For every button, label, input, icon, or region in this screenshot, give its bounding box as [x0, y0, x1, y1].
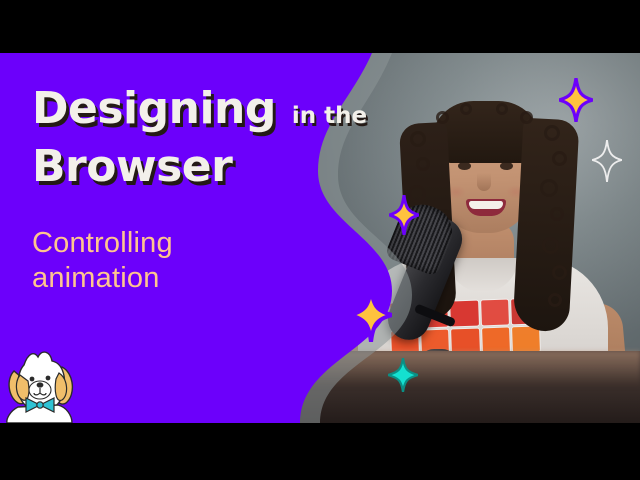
title-line-2: Browser: [32, 143, 367, 191]
hair-curl: [416, 157, 430, 171]
sparkle-wall-white-icon: [592, 140, 622, 182]
teeth: [469, 201, 503, 209]
title-suffix-word: in the: [292, 103, 367, 129]
hair-curl: [544, 125, 560, 141]
hair-curl: [410, 131, 426, 147]
subtitle-block: Controlling animation: [32, 226, 367, 297]
subtitle-line-1: Controlling: [32, 226, 367, 261]
title-block: Designing in the Browser Controlling ani…: [32, 85, 367, 297]
hair-curl: [550, 207, 564, 221]
video-frame: Designing in the Browser Controlling ani…: [0, 53, 640, 423]
eye-left: [458, 162, 471, 170]
letterbox-bar-top: [0, 0, 640, 53]
sparkle-shoulder-icon: [350, 288, 392, 342]
hair-curl: [542, 237, 559, 254]
hair-curl: [520, 111, 533, 124]
hair-curl: [496, 103, 508, 115]
subtitle-line-2: animation: [32, 261, 367, 296]
hair-curl: [460, 103, 472, 115]
letterbox-bar-bottom: [0, 423, 640, 480]
hair-right-curls: [512, 118, 579, 333]
hair-curl: [436, 111, 449, 124]
nose: [477, 173, 491, 191]
sparkle-teal-stand-icon: [388, 358, 418, 392]
title-line-1: Designing in the: [32, 85, 367, 133]
dog-mascot-logo: [4, 349, 82, 423]
video-player-stage: Designing in the Browser Controlling ani…: [0, 0, 640, 480]
title-main-word: Designing: [32, 85, 276, 133]
sparkle-mic-upper-icon: [389, 195, 419, 235]
sparkle-hair-top-icon: [559, 78, 593, 122]
eye-right: [500, 162, 513, 170]
hair-curl: [552, 265, 567, 280]
hair-curl: [540, 179, 558, 197]
hair-curl: [552, 151, 567, 166]
hair-curl: [548, 293, 562, 307]
